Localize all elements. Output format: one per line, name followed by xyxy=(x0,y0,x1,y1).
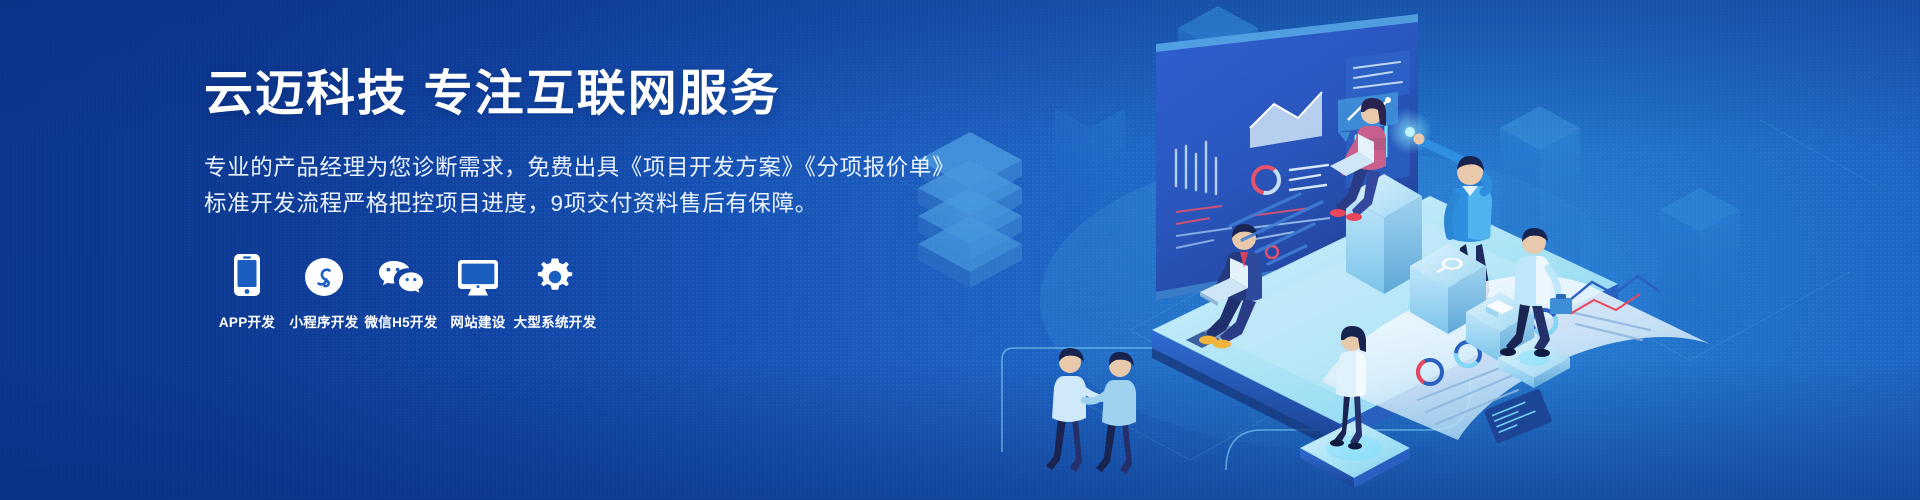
gear-icon xyxy=(535,251,575,297)
promo-banner: 云迈科技 专注互联网服务 专业的产品经理为您诊断需求，免费出具《项目开发方案》《… xyxy=(0,0,1920,500)
service-item-app[interactable]: APP开发 xyxy=(210,251,284,331)
figure-pair-lower xyxy=(1046,348,1136,474)
service-item-website[interactable]: 网站建设 xyxy=(441,251,515,331)
service-label: 网站建设 xyxy=(450,311,505,331)
monitor-icon xyxy=(457,251,499,297)
isometric-illustration xyxy=(870,0,1920,500)
illustration-canvas xyxy=(870,0,1920,500)
mini-program-icon xyxy=(304,251,344,297)
subtitle-line-2: 标准开发流程严格把控项目进度，9项交付资料售后有保障。 xyxy=(204,186,924,222)
page-title: 云迈科技 专注互联网服务 xyxy=(204,66,924,124)
service-list: APP开发 小程序开发 xyxy=(210,251,924,331)
banner-content: 云迈科技 专注互联网服务 专业的产品经理为您诊断需求，免费出具《项目开发方案》《… xyxy=(204,66,924,331)
service-item-large-system[interactable]: 大型系统开发 xyxy=(518,251,592,331)
mobile-phone-icon xyxy=(232,251,262,297)
service-label: 大型系统开发 xyxy=(514,311,597,331)
service-item-wechat-h5[interactable]: 微信H5开发 xyxy=(364,251,438,331)
subtitle-block: 专业的产品经理为您诊断需求，免费出具《项目开发方案》《分项报价单》 标准开发流程… xyxy=(204,150,924,223)
subtitle-line-1: 专业的产品经理为您诊断需求，免费出具《项目开发方案》《分项报价单》 xyxy=(204,150,924,186)
service-item-miniprogram[interactable]: 小程序开发 xyxy=(287,251,361,331)
service-label: APP开发 xyxy=(219,311,275,331)
service-label: 小程序开发 xyxy=(290,311,359,331)
service-label: 微信H5开发 xyxy=(364,311,437,331)
wechat-icon xyxy=(378,251,424,297)
